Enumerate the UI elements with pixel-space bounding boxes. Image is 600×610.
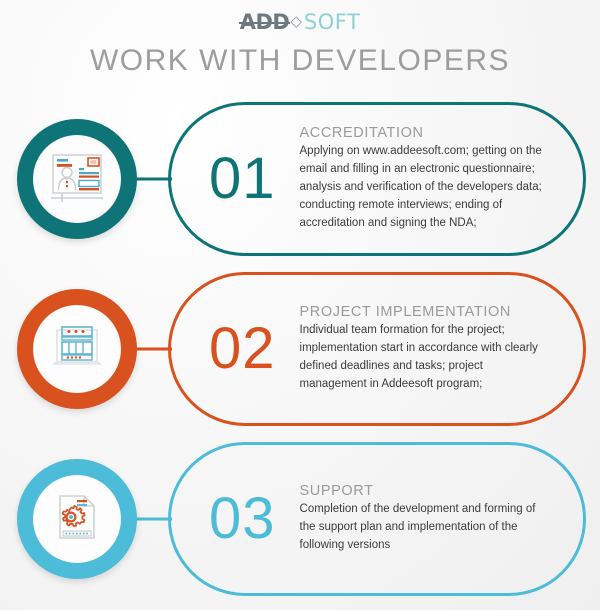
- step-1-body: Applying on www.addeesoft.com; getting o…: [300, 143, 549, 232]
- logo-soft-text: SOFT: [304, 10, 360, 34]
- step-1-icon-disc: [33, 135, 121, 223]
- step-2-text: PROJECT IMPLEMENTATION Individual team f…: [300, 304, 549, 393]
- step-3-number: 03: [209, 490, 276, 548]
- laptop-browser-icon: [49, 324, 105, 374]
- step-2-card: 02 PROJECT IMPLEMENTATION Individual tea…: [168, 272, 586, 426]
- logo-add-text: ADD: [240, 10, 290, 34]
- step-2-connector: [136, 348, 172, 351]
- step-1-heading: ACCREDITATION: [300, 125, 549, 141]
- page-title: WORK WITH DEVELOPERS: [0, 34, 600, 78]
- step-1-text: ACCREDITATION Applying on www.addeesoft.…: [300, 125, 549, 232]
- step-item-3: 03 SUPPORT Completion of the development…: [0, 434, 600, 604]
- step-2-body: Individual team formation for the projec…: [300, 322, 549, 393]
- step-2-number: 02: [209, 320, 276, 378]
- step-1-number: 01: [209, 150, 276, 208]
- step-3-heading: SUPPORT: [300, 483, 549, 499]
- step-3-text: SUPPORT Completion of the development an…: [300, 483, 549, 554]
- step-2-icon-disc: [33, 305, 121, 393]
- step-3-body: Completion of the development and formin…: [300, 501, 549, 554]
- step-1-connector: [136, 178, 172, 181]
- step-3-icon-disc: [33, 475, 121, 563]
- step-3-connector: [136, 518, 172, 521]
- logo-diamond-icon: ◇: [290, 12, 303, 30]
- step-1-circle: [17, 119, 137, 239]
- step-3-circle: [17, 459, 137, 579]
- step-1-card: 01 ACCREDITATION Applying on www.addeeso…: [168, 102, 586, 256]
- logo-wordmark: ADD ◇ SOFT: [240, 10, 361, 34]
- brand-logo: ADD ◇ SOFT: [0, 0, 600, 34]
- document-gear-icon: [50, 493, 104, 545]
- step-3-card: 03 SUPPORT Completion of the development…: [168, 442, 586, 596]
- step-2-circle: [17, 289, 137, 409]
- profile-card-icon: [49, 153, 105, 205]
- step-item-1: 01 ACCREDITATION Applying on www.addeeso…: [0, 94, 600, 264]
- steps-list: 01 ACCREDITATION Applying on www.addeeso…: [0, 94, 600, 604]
- step-2-heading: PROJECT IMPLEMENTATION: [300, 304, 549, 320]
- step-item-2: 02 PROJECT IMPLEMENTATION Individual tea…: [0, 264, 600, 434]
